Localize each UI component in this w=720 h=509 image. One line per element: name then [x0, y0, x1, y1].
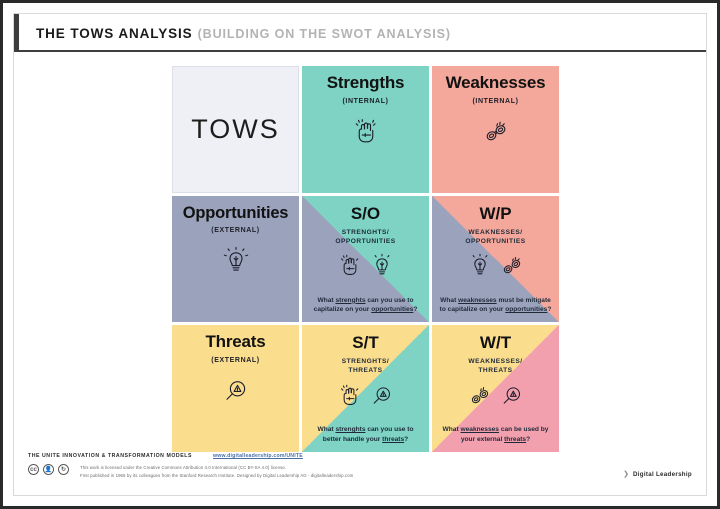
magnifier-warning-icon [221, 376, 251, 406]
lightbulb-icon [221, 246, 251, 276]
lightbulb-icon [467, 253, 493, 284]
matrix-header-strengths: Strengths (INTERNAL) [302, 66, 429, 193]
page-title: THE TOWS ANALYSIS(BUILDING ON THE SWOT A… [36, 25, 451, 43]
by-icon: 👤 [43, 464, 54, 475]
slide-page: THE TOWS ANALYSIS(BUILDING ON THE SWOT A… [0, 0, 720, 509]
wt-question: What weaknesses can be used by your exte… [438, 425, 553, 445]
matrix-cell-so: S/O STRENGHTS/OPPORTUNITIES [302, 196, 429, 323]
strengths-title: Strengths [327, 74, 405, 93]
brand-logo: ❯ Digital Leadership [623, 470, 692, 478]
magnifier-warning-icon [369, 383, 395, 414]
opportunities-title: Opportunities [183, 204, 289, 222]
tows-matrix: TOWS Strengths (INTERNAL) [172, 66, 559, 452]
page-title-main: THE TOWS ANALYSIS [36, 26, 193, 41]
broken-chain-icon [481, 117, 511, 147]
slide-footer: THE UNITE INNOVATION & TRANSFORMATION MO… [28, 453, 692, 487]
wp-title: W/P [479, 204, 511, 224]
fist-icon [351, 117, 381, 147]
slide-header: THE TOWS ANALYSIS(BUILDING ON THE SWOT A… [14, 14, 706, 52]
footer-models-label: THE UNITE INNOVATION & TRANSFORMATION MO… [28, 453, 192, 459]
broken-chain-icon [499, 253, 525, 284]
chevron-right-icon: ❯ [623, 470, 629, 478]
wp-question: What weaknesses must be mitigate to capi… [438, 296, 553, 316]
st-title: S/T [352, 333, 378, 353]
st-subtitle: STRENGHTS/THREATS [342, 358, 390, 376]
wt-title: W/T [480, 333, 511, 353]
footer-legal-line-1: This work is licensed under the Creative… [80, 464, 353, 472]
cc-icon: cc [28, 464, 39, 475]
so-title: S/O [351, 204, 380, 224]
header-accent-bar [14, 14, 19, 52]
tows-label: TOWS [191, 114, 280, 145]
wt-icon-group [467, 383, 525, 414]
weaknesses-subtitle: (INTERNAL) [472, 98, 518, 105]
wp-subtitle: WEAKNESSES/OPPORTUNITIES [465, 229, 525, 247]
fist-icon [337, 253, 363, 284]
so-subtitle: STRENGHTS/OPPORTUNITIES [335, 229, 395, 247]
matrix-cell-wt: W/T WEAKNESSES/THREATS [432, 325, 559, 452]
broken-chain-icon [467, 383, 493, 414]
lightbulb-icon [369, 253, 395, 284]
st-question: What strenghts can you use to better han… [308, 425, 423, 445]
st-icon-group [337, 383, 395, 414]
opportunities-subtitle: (EXTERNAL) [211, 227, 259, 234]
so-icon-group [337, 253, 395, 284]
fist-icon [337, 383, 363, 414]
threats-subtitle: (EXTERNAL) [211, 357, 259, 364]
strengths-subtitle: (INTERNAL) [342, 98, 388, 105]
matrix-cell-wp: W/P WEAKNESSES/OPPORTUNITIES [432, 196, 559, 323]
slide-inner-frame: THE TOWS ANALYSIS(BUILDING ON THE SWOT A… [13, 13, 707, 496]
footer-url-link[interactable]: www.digitalleadership.com/UNITE [213, 453, 303, 459]
wp-icon-group [467, 253, 525, 284]
creative-commons-badges: cc 👤 ↻ [28, 464, 69, 475]
matrix-header-opportunities: Opportunities (EXTERNAL) [172, 196, 299, 323]
brand-name-label: Digital Leadership [633, 471, 692, 478]
matrix-header-threats: Threats (EXTERNAL) [172, 325, 299, 452]
weaknesses-title: Weaknesses [446, 74, 546, 93]
threats-title: Threats [205, 333, 265, 352]
wt-subtitle: WEAKNESSES/THREATS [468, 358, 522, 376]
matrix-cell-tows-corner: TOWS [172, 66, 299, 193]
page-title-sub: (BUILDING ON THE SWOT ANALYSIS) [198, 27, 451, 41]
matrix-header-weaknesses: Weaknesses (INTERNAL) [432, 66, 559, 193]
footer-legal-text: This work is licensed under the Creative… [80, 464, 353, 479]
footer-legal-line-2: First published in 1965 by its colleague… [80, 472, 353, 480]
matrix-cell-st: S/T STRENGHTS/THREATS [302, 325, 429, 452]
sa-icon: ↻ [58, 464, 69, 475]
magnifier-warning-icon [499, 383, 525, 414]
so-question: What strenghts can you use to capitalize… [308, 296, 423, 316]
